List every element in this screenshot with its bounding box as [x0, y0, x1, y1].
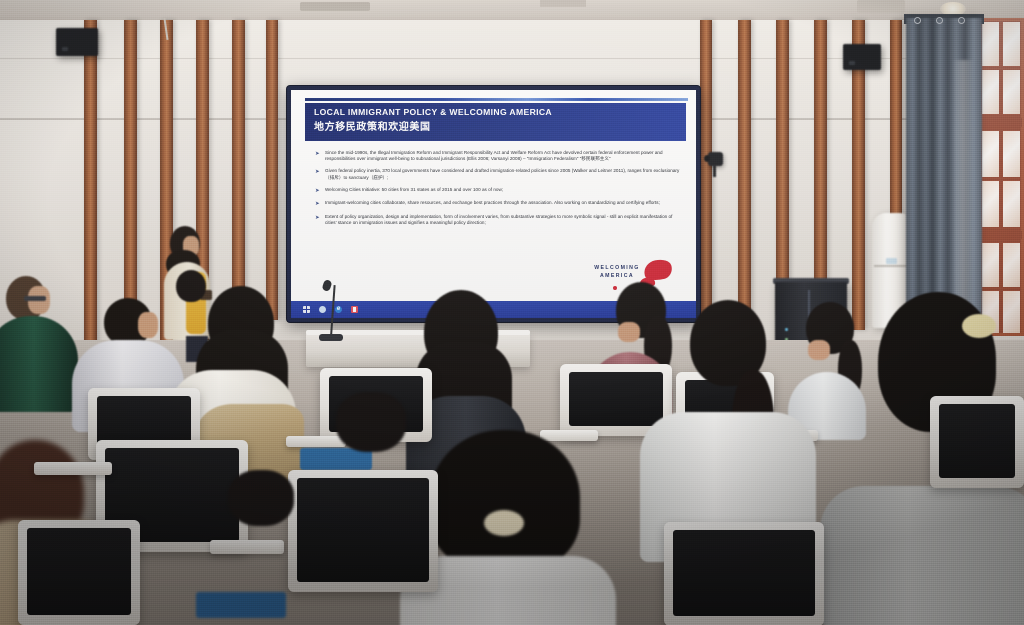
hair-tie-icon [484, 510, 524, 536]
glasses-icon [24, 296, 46, 301]
edge-icon[interactable]: e [335, 306, 342, 313]
bullet-text: Since the mid-1990s, the Illegal Immigra… [325, 150, 684, 163]
neck [618, 322, 640, 342]
chair-cushion [939, 404, 1015, 478]
window-mullion [980, 231, 1022, 239]
logo-line-1: WELCOMING [586, 264, 648, 272]
list-item: ➤ Given federal policy inertia, 370 loca… [315, 168, 684, 181]
microphone-base [319, 334, 343, 341]
start-icon[interactable] [303, 306, 310, 313]
sweater [820, 486, 1024, 625]
lecture-hall-photo: LOCAL IMMIGRANT POLICY & WELCOMING AMERI… [0, 0, 1024, 625]
hair-tie-icon [962, 314, 996, 338]
wall-speaker-right-icon [843, 44, 881, 70]
head [176, 270, 206, 302]
bullet-marker-icon: ➤ [315, 168, 321, 181]
bullet-text: Welcoming Cities Initiative: 50 cities f… [325, 187, 503, 195]
wood-slat [232, 20, 245, 330]
window-pane [982, 243, 999, 287]
curtain-highlight [952, 60, 974, 310]
slide-title-chinese: 地方移民政策和欢迎美国 [314, 121, 686, 135]
chair[interactable] [18, 520, 140, 625]
slide-accent-bar [305, 98, 688, 101]
window-pane [1003, 291, 1020, 333]
window-pane [1003, 243, 1020, 287]
bullet-marker-icon: ➤ [315, 187, 321, 195]
window-pane [1003, 131, 1020, 177]
slide-bullet-list: ➤ Since the mid-1990s, the Illegal Immig… [315, 150, 684, 232]
chair-tablet-arm[interactable] [286, 436, 346, 447]
ac-panel-icon [886, 258, 897, 264]
wood-slat [266, 20, 278, 320]
logo-text: WELCOMING AMERICA [586, 264, 648, 280]
rack-led-icon [785, 328, 788, 331]
logo-line-2: AMERICA [586, 272, 648, 280]
neck [808, 340, 830, 360]
window-pane [982, 70, 999, 114]
window-pane [982, 22, 999, 66]
shirt [0, 316, 78, 412]
hair [430, 430, 580, 570]
window-pane [1003, 70, 1020, 114]
camera-mount [713, 165, 716, 177]
window-pane [982, 181, 999, 227]
audience-head-partial [336, 392, 406, 452]
face [138, 312, 158, 338]
list-item: ➤ Immigrant-welcoming cities collaborate… [315, 200, 684, 208]
logo-swoosh-icon [642, 257, 674, 282]
bullet-marker-icon: ➤ [315, 214, 321, 227]
bullet-marker-icon: ➤ [315, 150, 321, 163]
chair-cushion [27, 528, 131, 615]
bullet-text: Extent of policy organization, design an… [325, 214, 684, 227]
chair[interactable] [664, 522, 824, 625]
chair-cushion [297, 478, 429, 582]
wood-slat [776, 20, 789, 315]
ceiling-vent-right [857, 0, 905, 13]
seat-bottom [196, 592, 286, 618]
slide-title-english: LOCAL IMMIGRANT POLICY & WELCOMING AMERI… [314, 106, 686, 119]
ceiling-panel-seam [540, 0, 586, 7]
logo-dot-icon [613, 286, 617, 290]
list-item: ➤ Extent of policy organization, design … [315, 214, 684, 227]
bullet-marker-icon: ➤ [315, 200, 321, 208]
ceiling-vent [300, 2, 370, 11]
chair[interactable] [288, 470, 438, 592]
curtain-grommet-icon [958, 17, 965, 24]
chair-tablet-arm[interactable] [210, 540, 284, 554]
list-item: ➤ Welcoming Cities Initiative: 50 cities… [315, 187, 684, 195]
chair-cushion [673, 530, 815, 616]
chair-tablet-arm[interactable] [540, 430, 598, 441]
cortana-icon[interactable] [319, 306, 326, 313]
wood-slat [700, 20, 712, 320]
window-pane [1003, 181, 1020, 227]
wood-slat [814, 20, 827, 320]
bullet-text: Immigrant-welcoming cities collaborate, … [325, 200, 660, 208]
wall-camera-icon [708, 152, 723, 166]
app-icon[interactable] [351, 306, 358, 313]
list-item: ➤ Since the mid-1990s, the Illegal Immig… [315, 150, 684, 163]
wood-slat [84, 20, 97, 350]
chair-tablet-arm[interactable] [34, 462, 112, 475]
window-pane [1003, 22, 1020, 66]
wood-slat [738, 20, 751, 320]
window-mullion [980, 118, 1022, 127]
chair-cushion [569, 372, 663, 426]
window-pane [982, 131, 999, 177]
bullet-text: Given federal policy inertia, 370 local … [325, 168, 684, 181]
slide-title-bar: LOCAL IMMIGRANT POLICY & WELCOMING AMERI… [305, 103, 686, 141]
window [978, 18, 1024, 336]
chair[interactable] [930, 396, 1024, 488]
audience-head-partial [228, 470, 294, 526]
curtain-grommet-icon [914, 17, 921, 24]
curtain-grommet-icon [936, 17, 943, 24]
wall-speaker-left-icon [56, 28, 98, 56]
